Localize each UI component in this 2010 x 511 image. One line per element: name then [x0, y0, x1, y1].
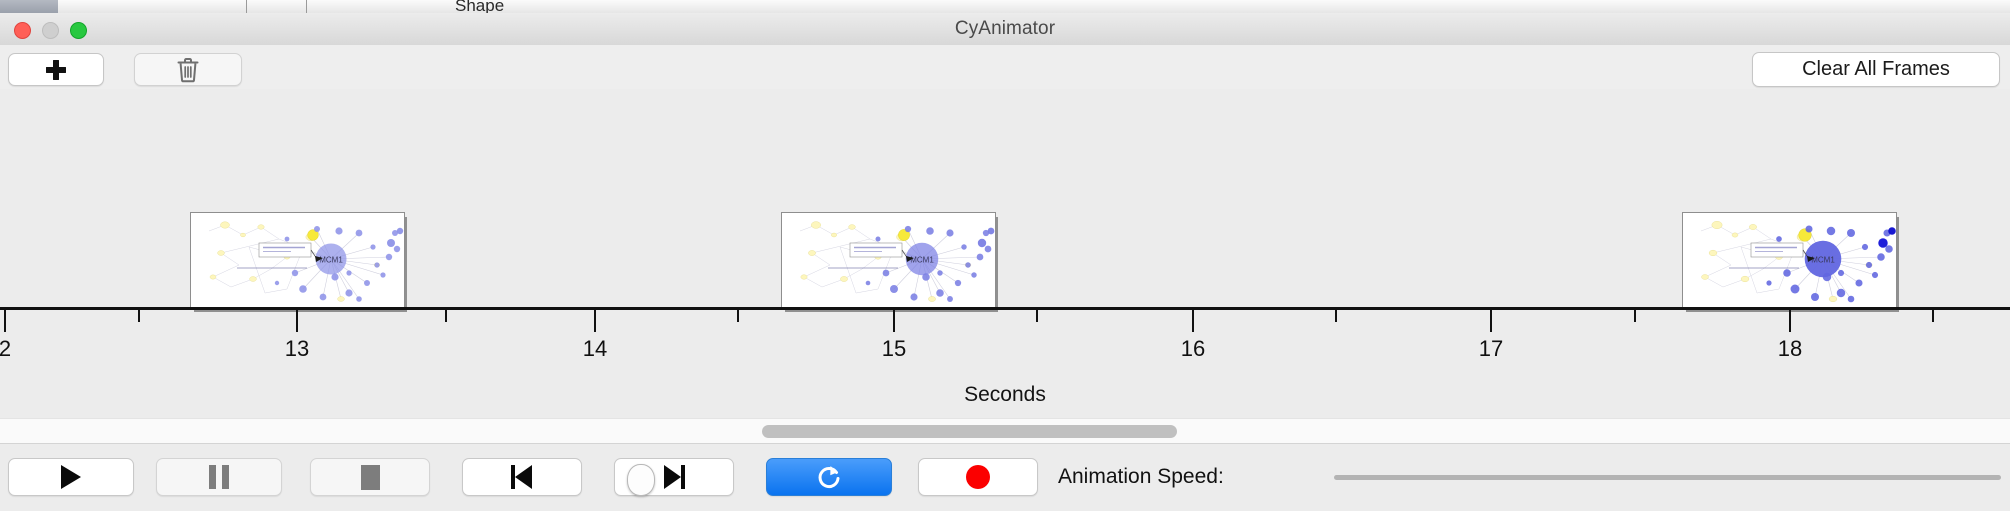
pause-icon [209, 465, 229, 489]
title-bar: CyAnimator [0, 13, 2010, 46]
axis-tick-label: 16 [1152, 336, 1234, 362]
axis-tick-label: 13 [256, 336, 338, 362]
frame-thumbnail[interactable]: MCM1 [1682, 212, 1897, 309]
skip-start-button[interactable] [462, 458, 582, 496]
axis-title: Seconds [0, 383, 2010, 407]
frame-timeline-panel[interactable]: MCM1MCM1MCM1 [0, 89, 2010, 321]
loop-button[interactable] [766, 458, 892, 496]
axis-tick-minor [445, 310, 447, 322]
timeline-frame[interactable]: MCM1 [781, 212, 994, 307]
animation-speed-slider[interactable] [1334, 475, 2001, 480]
axis-tick-minor [1335, 310, 1337, 322]
timeline-frame[interactable]: MCM1 [190, 212, 403, 307]
background-window-strip: Shape [0, 0, 2010, 14]
axis-tick-major [893, 310, 895, 332]
loop-icon [816, 463, 842, 491]
axis-tick-major [1789, 310, 1791, 332]
axis-tick-major [594, 310, 596, 332]
skip-end-icon [662, 465, 686, 489]
scrollbar-thumb[interactable] [762, 425, 1177, 438]
timeline-frame[interactable]: MCM1 [1682, 212, 1895, 307]
axis-tick-minor [1634, 310, 1636, 322]
cyanimator-window: Shape CyAnimator Clear All Frames MCM1MC… [0, 0, 2010, 510]
axis-tick-minor [1932, 310, 1934, 322]
axis-tick-major [296, 310, 298, 332]
animation-speed-slider-knob[interactable] [627, 464, 655, 496]
horizontal-scrollbar[interactable] [0, 418, 2010, 444]
axis-tick-major [1490, 310, 1492, 332]
plus-icon [46, 60, 66, 80]
record-icon [966, 465, 990, 489]
toolbar: Clear All Frames [0, 45, 2010, 91]
frame-thumbnail[interactable]: MCM1 [781, 212, 996, 309]
svg-text:MCM1: MCM1 [1811, 256, 1835, 265]
window-title: CyAnimator [0, 13, 2010, 45]
stop-icon [361, 465, 380, 490]
axis-tick-label: 14 [554, 336, 636, 362]
axis-tick-label: 2 [0, 336, 46, 362]
frame-thumbnail[interactable]: MCM1 [190, 212, 405, 309]
stop-button[interactable] [310, 458, 430, 496]
trash-icon [176, 57, 200, 83]
axis-tick-label: 15 [853, 336, 935, 362]
delete-frame-button[interactable] [134, 53, 242, 86]
axis-tick-label: 17 [1450, 336, 1532, 362]
record-button[interactable] [918, 458, 1038, 496]
add-frame-button[interactable] [8, 53, 104, 86]
play-button[interactable] [8, 458, 134, 496]
axis-tick-major [1192, 310, 1194, 332]
svg-text:MCM1: MCM1 [319, 256, 343, 265]
svg-text:MCM1: MCM1 [910, 256, 934, 265]
axis-tick-minor [737, 310, 739, 322]
axis-tick-label: 18 [1749, 336, 1831, 362]
play-icon [61, 465, 81, 489]
background-window-label: Shape [455, 0, 504, 14]
playback-bar: Animation Speed: [0, 443, 2010, 511]
skip-start-icon [510, 465, 534, 489]
animation-speed-label: Animation Speed: [1058, 458, 1224, 496]
axis-tick-minor [1036, 310, 1038, 322]
pause-button[interactable] [156, 458, 282, 496]
axis-tick-major [4, 310, 6, 332]
axis-tick-minor [138, 310, 140, 322]
timeline-axis [0, 307, 2010, 310]
clear-all-frames-button[interactable]: Clear All Frames [1752, 52, 2000, 87]
